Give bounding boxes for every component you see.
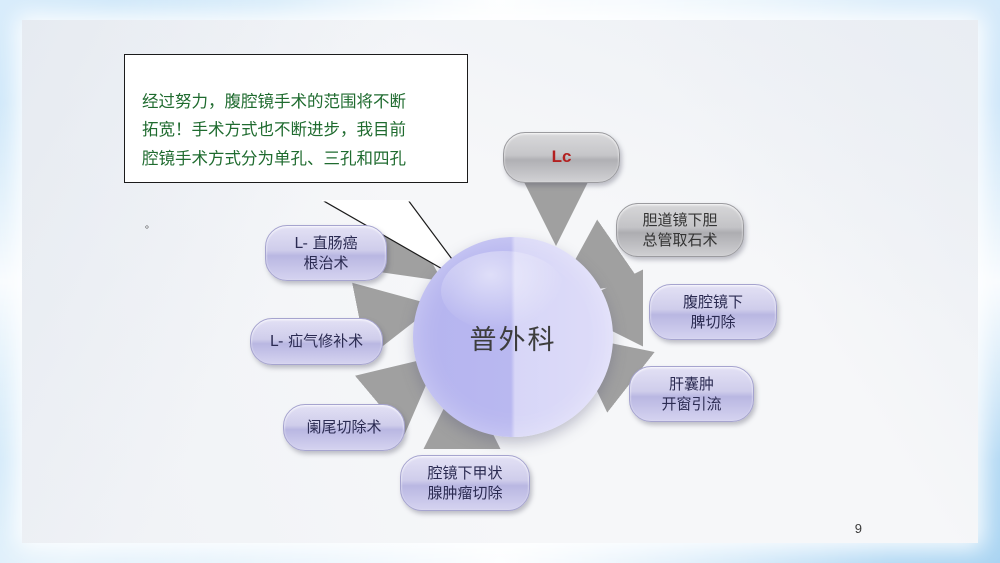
slide-canvas: 经过努力，腹腔镜手术的范围将不断 拓宽！手术方式也不断进步，我目前 腔镜手术方式… (0, 0, 1000, 563)
node-lc[interactable]: Lc (503, 132, 620, 183)
callout-box: 经过努力，腹腔镜手术的范围将不断 拓宽！手术方式也不断进步，我目前 腔镜手术方式… (124, 54, 468, 183)
node-appendix[interactable]: 阑尾切除术 (283, 404, 405, 451)
node-liver-cyst[interactable]: 肝囊肿 开窗引流 (629, 366, 754, 422)
callout-bullet: 。 (145, 221, 155, 231)
node-bile-duct[interactable]: 胆道镜下胆 总管取石术 (616, 203, 744, 257)
page-number: 9 (855, 521, 862, 536)
node-thyroid[interactable]: 腔镜下甲状 腺肿瘤切除 (400, 455, 530, 511)
center-label: 普外科 (470, 318, 557, 357)
node-hernia[interactable]: L- 疝气修补术 (250, 318, 383, 365)
node-spleen[interactable]: 腹腔镜下 脾切除 (649, 284, 777, 340)
callout-text: 经过努力，腹腔镜手术的范围将不断 拓宽！手术方式也不断进步，我目前 腔镜手术方式… (142, 88, 454, 173)
node-rectal-cancer[interactable]: L- 直肠癌 根治术 (265, 225, 387, 281)
node-lc-label: Lc (552, 146, 572, 169)
center-sphere[interactable]: 普外科 (413, 237, 613, 437)
